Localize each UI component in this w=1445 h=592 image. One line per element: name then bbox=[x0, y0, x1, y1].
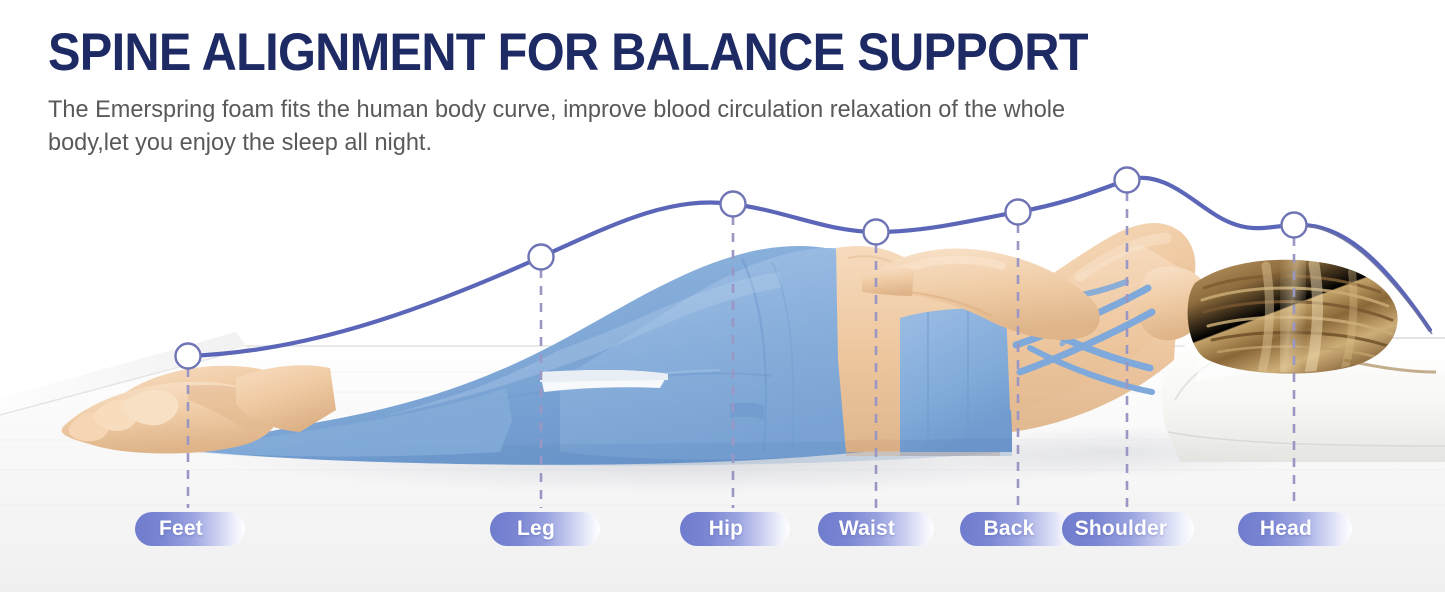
page-subtitle: The Emerspring foam fits the human body … bbox=[48, 94, 1104, 159]
marker-leg bbox=[529, 245, 554, 270]
label-pill-leg-text: Leg bbox=[517, 517, 555, 541]
label-pill-leg[interactable]: Leg bbox=[490, 512, 600, 546]
marker-back bbox=[1006, 200, 1031, 225]
infographic-canvas: SPINE ALIGNMENT FOR BALANCE SUPPORT The … bbox=[0, 0, 1445, 592]
header-block: SPINE ALIGNMENT FOR BALANCE SUPPORT The … bbox=[48, 26, 1148, 159]
label-pill-waist-text: Waist bbox=[839, 517, 895, 541]
page-title: SPINE ALIGNMENT FOR BALANCE SUPPORT bbox=[48, 26, 1060, 80]
label-pill-feet-text: Feet bbox=[159, 517, 203, 541]
label-pill-waist[interactable]: Waist bbox=[818, 512, 934, 546]
label-pill-head[interactable]: Head bbox=[1238, 512, 1352, 546]
label-pill-shoulder-text: Shoulder bbox=[1075, 517, 1168, 541]
marker-feet bbox=[176, 344, 201, 369]
marker-waist bbox=[864, 220, 889, 245]
marker-shoulder bbox=[1115, 168, 1140, 193]
label-pill-hip[interactable]: Hip bbox=[680, 512, 790, 546]
label-pill-feet[interactable]: Feet bbox=[135, 512, 245, 546]
label-pill-back[interactable]: Back bbox=[960, 512, 1072, 546]
body-sports-bra bbox=[900, 308, 1012, 456]
label-pill-shoulder[interactable]: Shoulder bbox=[1062, 512, 1194, 546]
label-pill-hip-text: Hip bbox=[709, 517, 743, 541]
label-pill-head-text: Head bbox=[1260, 517, 1312, 541]
label-pill-back-text: Back bbox=[983, 517, 1034, 541]
marker-head bbox=[1282, 213, 1307, 238]
marker-hip bbox=[721, 192, 746, 217]
